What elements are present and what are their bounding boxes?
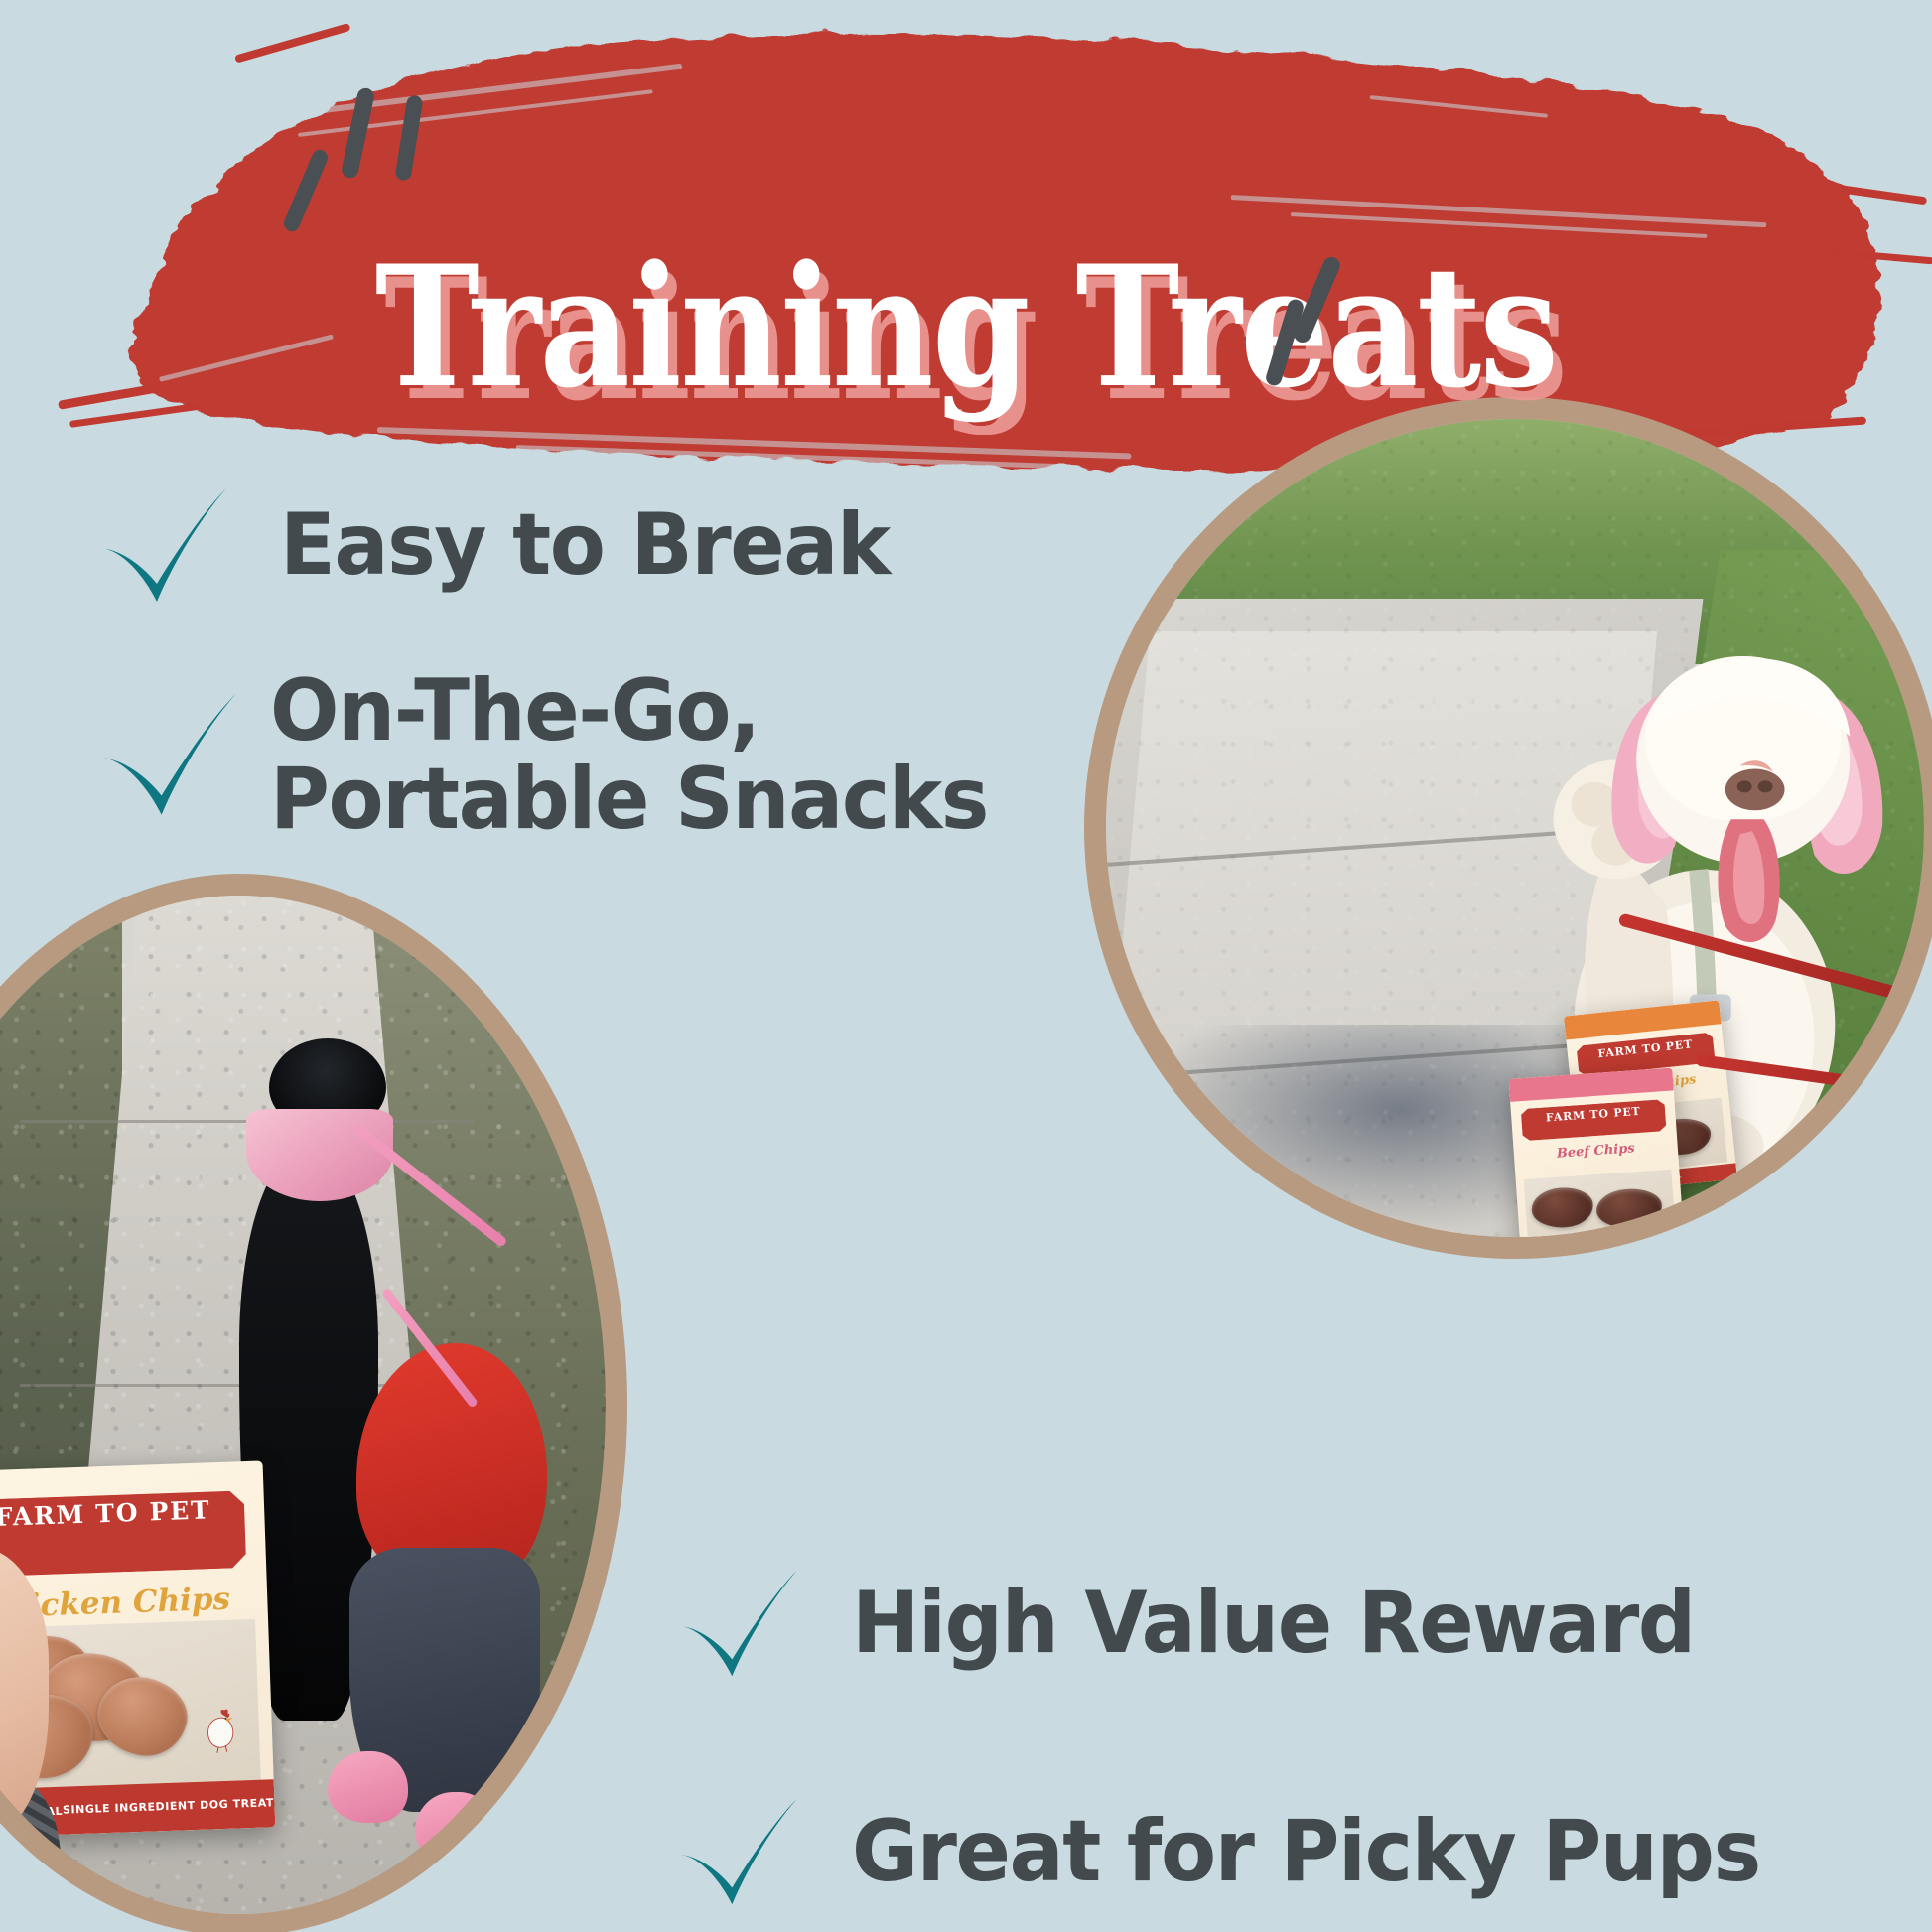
feature-label: High Value Reward [852,1580,1695,1668]
accent-tick-3 [281,147,330,233]
check-icon [87,477,236,616]
chicken-illustration [196,1705,244,1754]
accent-tick-2 [394,94,423,181]
photo-inner: FARM TO PET Turkey Chips 100% NATURAL FA… [1106,419,1924,1237]
feature-on-the-go: On-The-Go, Portable Snacks [87,667,1026,845]
poster-canvas: Training Treats Easy to Break On-The-Go,… [0,0,1932,1932]
feature-label: On-The-Go, Portable Snacks [270,667,988,845]
package-beef-chips: FARM TO PET Beef Chips SINGLE INGREDIENT [1509,1068,1686,1237]
feature-label: Easy to Break [280,501,890,590]
package-brand-banner: FARM TO PET [1521,1099,1667,1141]
child-shoe [328,1751,408,1823]
scene-walk-path: FARM TO PET Chicken Chips [0,896,606,1914]
feature-label: Great for Picky Pups [852,1808,1760,1896]
feature-high-value-reward: High Value Reward [667,1559,1739,1690]
photo-dog-waving-paw: FARM TO PET Turkey Chips 100% NATURAL FA… [1084,397,1932,1259]
package-claim-single-ingredient: SINGLE INGREDIENT DOG TREATS [63,1797,275,1817]
feature-easy-to-break: Easy to Break [87,477,921,616]
check-icon [87,671,246,840]
check-icon [667,1559,806,1690]
photo-inner: FARM TO PET Chicken Chips [0,896,606,1914]
page-title: Training Treats [155,243,1778,410]
accent-tick-1 [341,86,376,180]
scene-sidewalk-dog: FARM TO PET Turkey Chips 100% NATURAL FA… [1106,419,1924,1237]
photo-walking-dog-with-treats: FARM TO PET Chicken Chips [0,874,627,1932]
check-icon [667,1787,806,1918]
feature-great-for-picky-pups: Great for Picky Pups [667,1787,1808,1918]
package-flavor: Beef Chips [1514,1139,1678,1165]
package-brand-banner: FARM TO PET [0,1490,246,1577]
child-shoe-2 [415,1792,495,1863]
